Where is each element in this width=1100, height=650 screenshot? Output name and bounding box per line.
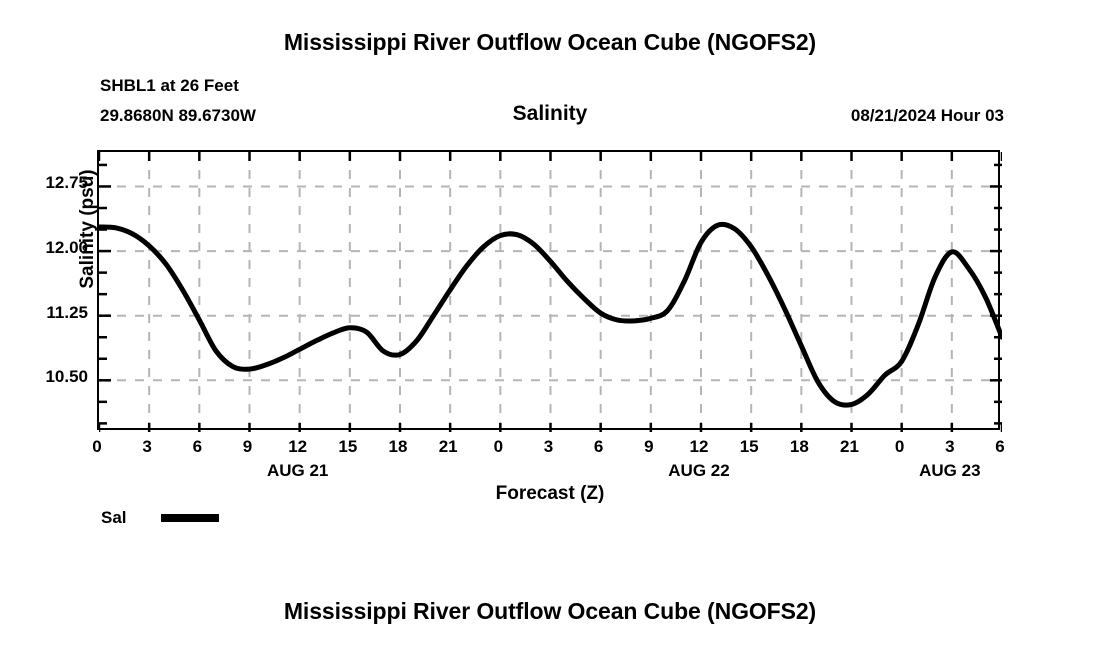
x-tick-label: 0 bbox=[888, 437, 912, 457]
x-tick-label: 21 bbox=[838, 437, 862, 457]
x-tick-label: 0 bbox=[85, 437, 109, 457]
day-label: AUG 22 bbox=[644, 461, 754, 481]
x-tick-label: 9 bbox=[637, 437, 661, 457]
x-axis-title: Forecast (Z) bbox=[0, 483, 1100, 505]
x-tick-label: 6 bbox=[185, 437, 209, 457]
vertical-gridlines bbox=[149, 152, 952, 432]
footer-title: Mississippi River Outflow Ocean Cube (NG… bbox=[0, 598, 1100, 625]
x-tick-label: 18 bbox=[386, 437, 410, 457]
legend-label: Sal bbox=[101, 508, 127, 528]
x-tick-label: 3 bbox=[938, 437, 962, 457]
page-title: Mississippi River Outflow Ocean Cube (NG… bbox=[0, 29, 1100, 56]
x-tick-label: 6 bbox=[587, 437, 611, 457]
plot-area bbox=[97, 150, 1000, 430]
legend-line-swatch bbox=[161, 514, 219, 522]
y-tick-label: 10.50 bbox=[0, 367, 88, 387]
station-label: SHBL1 at 26 Feet bbox=[100, 76, 239, 96]
salinity-line-chart bbox=[99, 152, 1002, 432]
y-tick-label: 12.00 bbox=[0, 238, 88, 258]
chart-legend: Sal bbox=[101, 508, 219, 528]
x-tick-label: 21 bbox=[436, 437, 460, 457]
x-tick-label: 15 bbox=[737, 437, 761, 457]
x-tick-label: 3 bbox=[537, 437, 561, 457]
x-tick-label: 12 bbox=[687, 437, 711, 457]
day-label: AUG 23 bbox=[895, 461, 1005, 481]
chart-page: Mississippi River Outflow Ocean Cube (NG… bbox=[0, 0, 1100, 650]
x-tick-label: 6 bbox=[988, 437, 1012, 457]
x-tick-label: 9 bbox=[236, 437, 260, 457]
y-tick-label: 12.75 bbox=[0, 173, 88, 193]
x-tick-label: 3 bbox=[135, 437, 159, 457]
x-tick-label: 18 bbox=[787, 437, 811, 457]
y-tick-label: 11.25 bbox=[0, 303, 88, 323]
x-tick-label: 15 bbox=[336, 437, 360, 457]
issued-time-label: 08/21/2024 Hour 03 bbox=[851, 106, 1004, 126]
day-label: AUG 21 bbox=[243, 461, 353, 481]
x-tick-label: 12 bbox=[286, 437, 310, 457]
x-tick-label: 0 bbox=[486, 437, 510, 457]
